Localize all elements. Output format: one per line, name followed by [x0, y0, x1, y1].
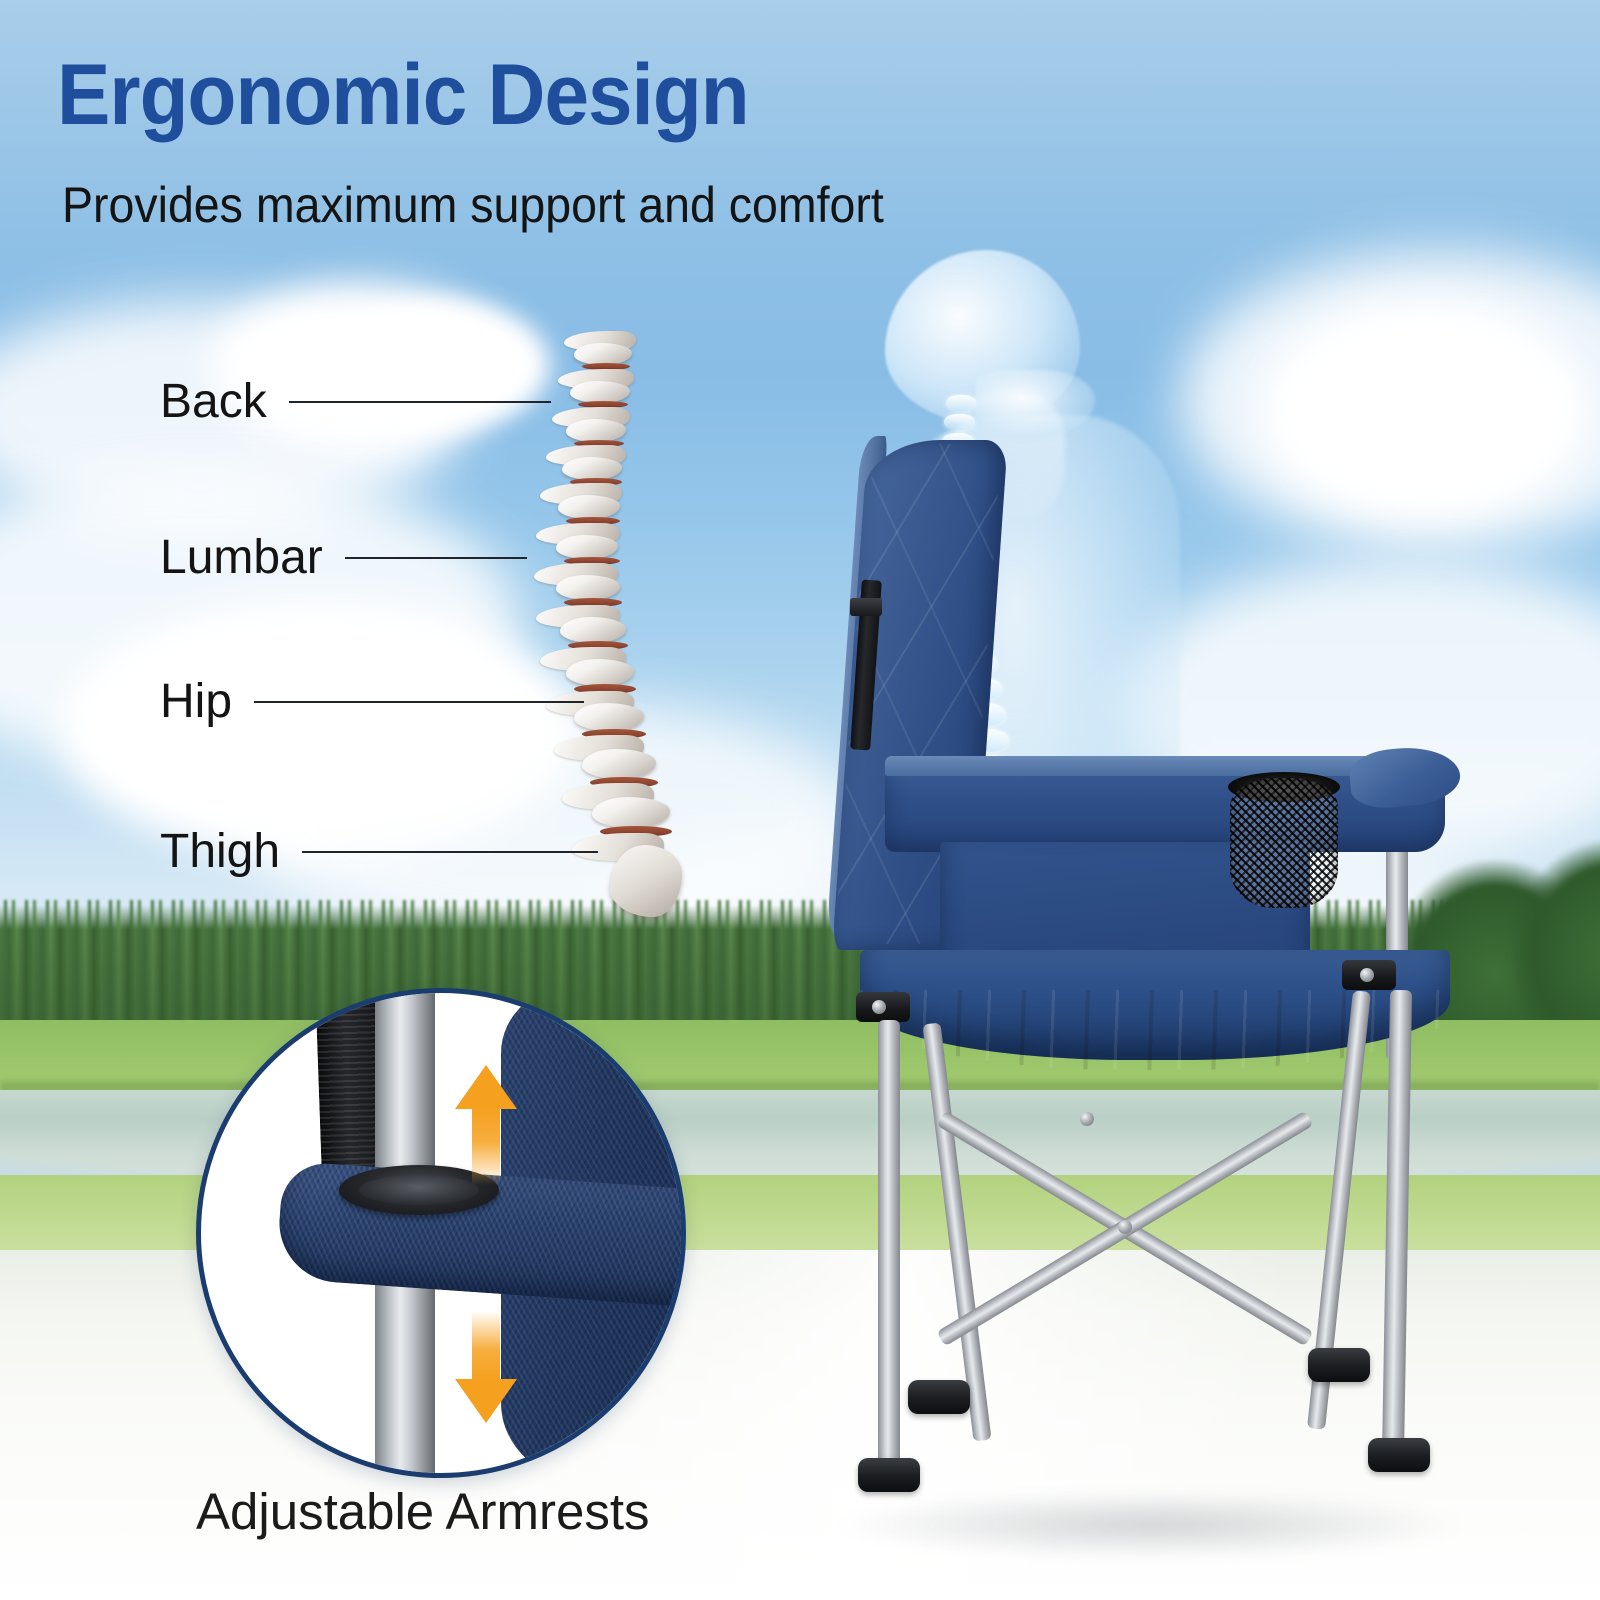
chair-shadow	[830, 1490, 1470, 1560]
frame-rivet	[1360, 968, 1374, 982]
chair-leg-front-left	[878, 1020, 900, 1470]
strap-buckle	[850, 598, 882, 616]
inset-caption: Adjustable Armrests	[196, 1482, 650, 1541]
leader-line	[254, 701, 584, 703]
callout-label: Back	[160, 378, 267, 426]
chair-foot	[1368, 1438, 1430, 1472]
chair-leg-rear-right	[1382, 990, 1412, 1460]
frame-rivet	[872, 1000, 886, 1014]
tree-cluster	[1510, 840, 1600, 1030]
arrow-up-icon	[455, 1065, 517, 1183]
callout-back: Back	[160, 378, 551, 426]
leader-line	[289, 401, 551, 403]
arrow-down-icon	[455, 1313, 517, 1423]
callout-thigh: Thigh	[160, 828, 598, 876]
chair-leg-rear-left	[922, 1022, 991, 1441]
callout-label: Hip	[160, 678, 232, 726]
cross-brace-rivet	[1118, 1220, 1132, 1234]
chair-foot	[858, 1458, 920, 1492]
armrest-detail-inset	[196, 988, 686, 1478]
armrest-end-pad	[1348, 743, 1463, 810]
leader-line	[302, 851, 598, 853]
leader-line	[345, 557, 527, 559]
callout-hip: Hip	[160, 678, 584, 726]
chair-foot	[908, 1380, 970, 1414]
callout-label: Thigh	[160, 828, 280, 876]
folding-camping-chair	[830, 430, 1470, 1520]
page-subtitle: Provides maximum support and comfort	[62, 180, 884, 230]
page-title: Ergonomic Design	[57, 52, 749, 138]
product-feature-image: Ergonomic Design Provides maximum suppor…	[0, 0, 1600, 1600]
mesh-cup-holder	[1230, 778, 1338, 908]
cross-brace-rivet	[1080, 1112, 1094, 1126]
chair-foot	[1308, 1348, 1370, 1382]
callout-label: Lumbar	[160, 534, 323, 582]
callout-lumbar: Lumbar	[160, 534, 527, 582]
